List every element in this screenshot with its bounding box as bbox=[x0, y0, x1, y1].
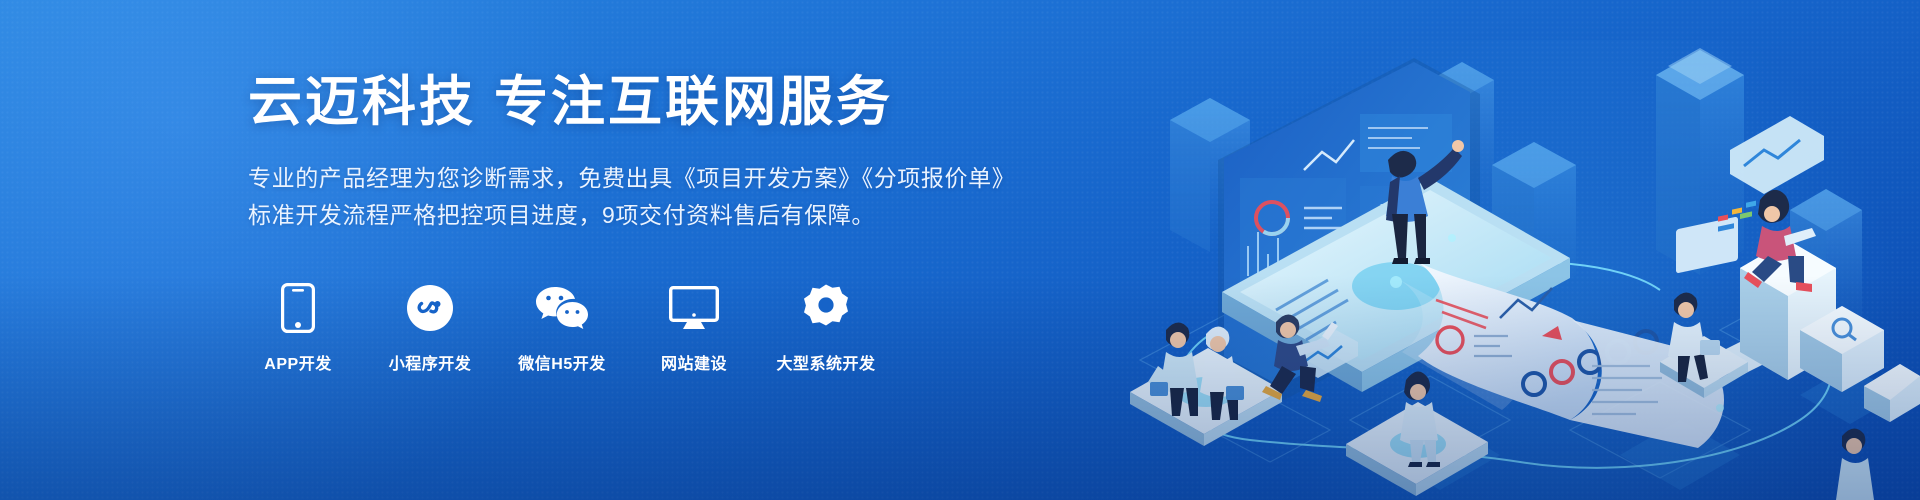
service-item-website[interactable]: 网站建设 bbox=[646, 282, 742, 374]
service-item-wechat-h5[interactable]: 微信H5开发 bbox=[514, 282, 610, 374]
mobile-phone-icon bbox=[281, 282, 315, 334]
service-label-wechat-h5: 微信H5开发 bbox=[518, 350, 605, 374]
banner-headline: 云迈科技 专注互联网服务 bbox=[248, 72, 1088, 134]
service-item-large-system[interactable]: 大型系统开发 bbox=[778, 282, 874, 374]
hero-illustration bbox=[1100, 0, 1920, 500]
banner-subline-2: 标准开发流程严格把控项目进度，9项交付资料售后有保障。 bbox=[248, 197, 1088, 234]
wechat-icon bbox=[536, 282, 588, 334]
gear-icon bbox=[802, 282, 850, 334]
monitor-icon bbox=[669, 282, 719, 334]
service-list: APP开发 小程序开发 bbox=[250, 282, 874, 374]
service-label-large-system: 大型系统开发 bbox=[777, 350, 876, 374]
chart-bubble bbox=[1730, 116, 1824, 194]
service-label-mini-program: 小程序开发 bbox=[389, 350, 472, 374]
hero-banner: 云迈科技 专注互联网服务 专业的产品经理为您诊断需求，免费出具《项目开发方案》《… bbox=[0, 0, 1920, 500]
person-bottom-right bbox=[1836, 428, 1874, 500]
service-label-website: 网站建设 bbox=[661, 350, 727, 374]
banner-copy: 云迈科技 专注互联网服务 专业的产品经理为您诊断需求，免费出具《项目开发方案》《… bbox=[248, 72, 1088, 234]
service-label-app: APP开发 bbox=[264, 350, 331, 374]
service-item-app[interactable]: APP开发 bbox=[250, 282, 346, 374]
service-item-mini-program[interactable]: 小程序开发 bbox=[382, 282, 478, 374]
banner-subline-1: 专业的产品经理为您诊断需求，免费出具《项目开发方案》《分项报价单》 bbox=[248, 160, 1088, 197]
mini-program-icon bbox=[406, 282, 454, 334]
